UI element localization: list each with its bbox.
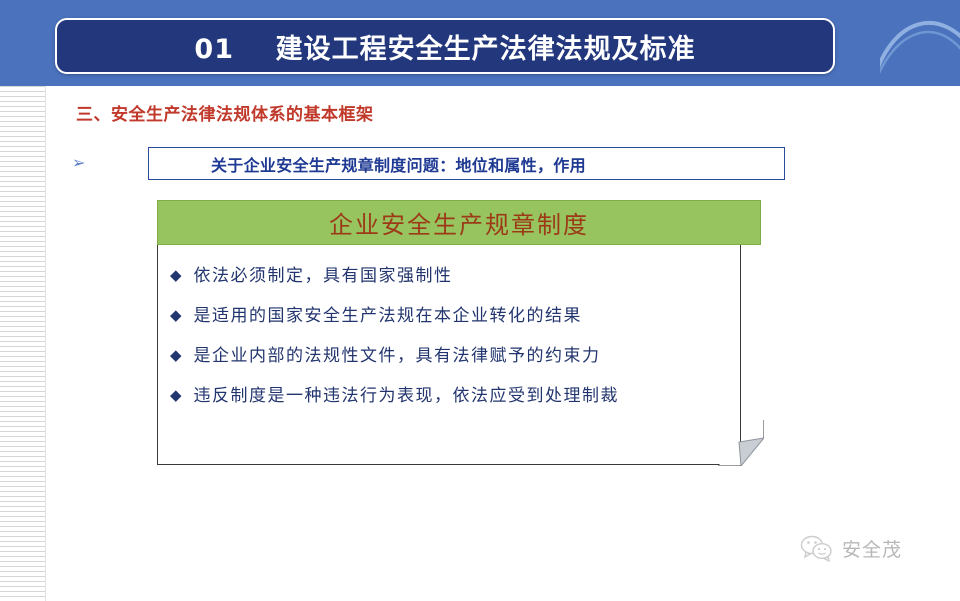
section-heading: 三、安全生产法律法规体系的基本框架	[76, 100, 374, 125]
callout-box: 关于企业安全生产规章制度问题：地位和属性，作用	[148, 147, 785, 180]
callout-label: 关于企业安全生产规章制度问题：地位和属性，作用	[211, 152, 586, 176]
diamond-bullet-icon: ◆	[170, 263, 182, 289]
watermark: 安全茂	[800, 534, 902, 562]
diamond-bullet-icon: ◆	[170, 383, 182, 409]
card-body: ◆ 依法必须制定，具有国家强制性 ◆ 是适用的国家安全生产法规在本企业转化的结果…	[157, 245, 741, 465]
list-item: ◆ 是企业内部的法规性文件，具有法律赋予的约束力	[158, 343, 740, 369]
card-header-title: 企业安全生产规章制度	[329, 205, 589, 240]
list-item: ◆ 是适用的国家安全生产法规在本企业转化的结果	[158, 303, 740, 329]
diamond-bullet-icon: ◆	[170, 343, 182, 369]
page-title: 01 建设工程安全生产法律法规及标准	[194, 27, 695, 66]
list-item-label: 是适用的国家安全生产法规在本企业转化的结果	[194, 303, 583, 329]
list-item: ◆ 违反制度是一种违法行为表现，依法应受到处理制裁	[158, 383, 740, 409]
left-stripe-edge	[45, 86, 46, 601]
left-stripe-decoration	[0, 86, 46, 601]
watermark-label: 安全茂	[842, 535, 902, 562]
content-card: 企业安全生产规章制度 ◆ 依法必须制定，具有国家强制性 ◆ 是适用的国家安全生产…	[157, 200, 761, 465]
arrow-right-bullet-icon: ➢	[72, 155, 85, 173]
list-item-label: 是企业内部的法规性文件，具有法律赋予的约束力	[194, 343, 601, 369]
slide-title-bar: 01 建设工程安全生产法律法规及标准	[55, 18, 835, 74]
diamond-bullet-icon: ◆	[170, 303, 182, 329]
card-header: 企业安全生产规章制度	[157, 200, 761, 245]
slide-canvas: 01 建设工程安全生产法律法规及标准 三、安全生产法律法规体系的基本框架 关于企…	[0, 0, 960, 601]
list-item-label: 违反制度是一种违法行为表现，依法应受到处理制裁	[194, 383, 620, 409]
wechat-logo-icon	[800, 534, 834, 562]
list-item-label: 依法必须制定，具有国家强制性	[194, 263, 453, 289]
list-item: ◆ 依法必须制定，具有国家强制性	[158, 263, 740, 289]
